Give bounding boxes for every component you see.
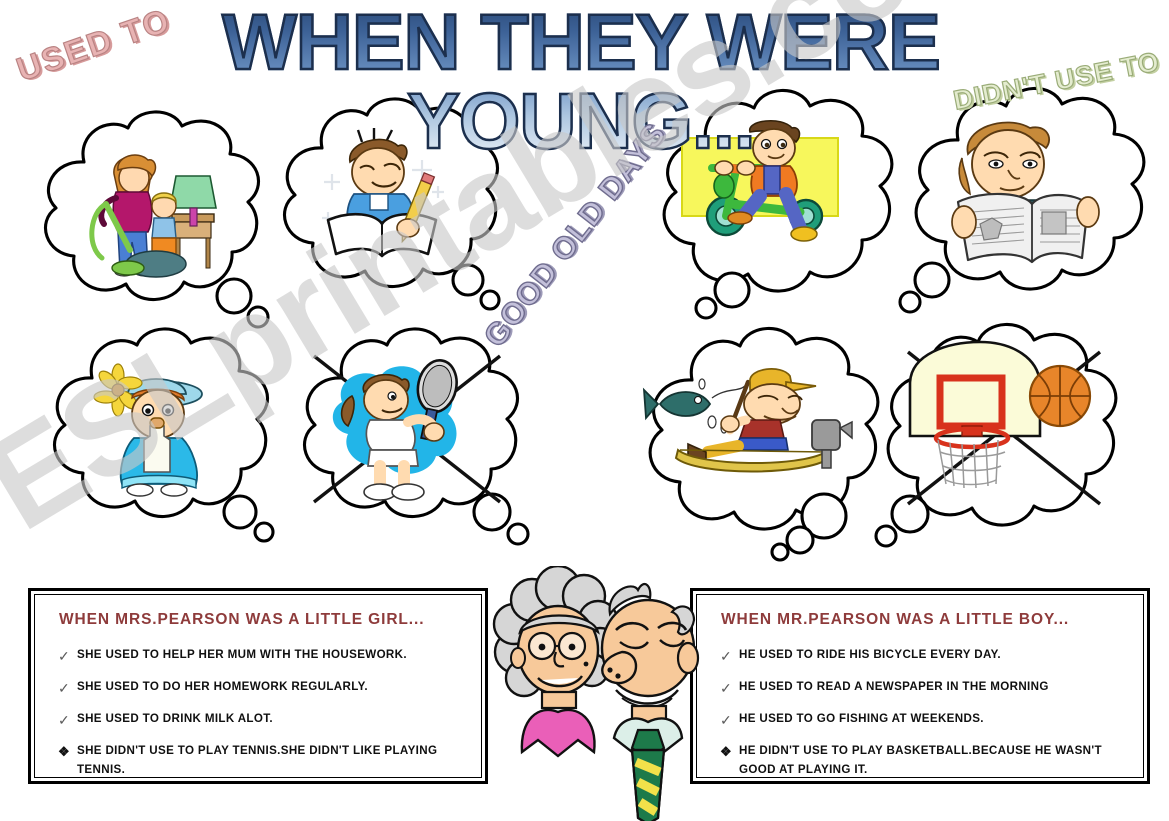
mrs-pearson-avatar [494,566,618,756]
mrs-pearson-sentence-list: ✓ SHE USED TO HELP HER MUM WITH THE HOUS… [51,646,465,780]
list-item: ✓ HE USED TO GO FISHING AT WEEKENDS. [713,710,1127,731]
thought-bubble-tennis [282,322,530,540]
scene-milk-icon [88,358,228,500]
list-item-text: HE DIDN'T USE TO PLAY BASKETBALL.BECAUSE… [739,742,1127,780]
check-icon: ✓ [713,678,739,699]
scene-fishing-icon [654,364,858,476]
thought-bubble-milk [32,322,280,540]
diamond-cross-icon: ❖ [51,742,77,762]
list-item-text: HE USED TO RIDE HIS BICYCLE EVERY DAY. [739,646,1127,665]
scene-tennis-icon [324,352,490,504]
list-item-text: HE USED TO READ A NEWSPAPER IN THE MORNI… [739,678,1127,697]
check-icon: ✓ [713,710,739,731]
list-item-text: SHE DIDN'T USE TO PLAY TENNIS.SHE DIDN'T… [77,742,465,780]
scene-basketball-icon [900,340,1100,506]
mr-pearson-avatar [602,584,698,821]
diamond-cross-icon: ❖ [713,742,739,762]
used-to-label: USED TO [12,1,176,89]
elderly-couple-illustration [482,566,710,821]
list-item: ✓ SHE USED TO DO HER HOMEWORK REGULARLY. [51,678,465,699]
check-icon: ✓ [713,646,739,667]
worksheet-page: USED TO WHEN THEY WERE YOUNG... DIDN'T U… [0,0,1169,821]
list-item: ✓ HE USED TO RIDE HIS BICYCLE EVERY DAY. [713,646,1127,667]
mr-pearson-panel-title: WHEN MR.PEARSON WAS A LITTLE BOY... [721,611,1127,629]
mr-pearson-sentence-list: ✓ HE USED TO RIDE HIS BICYCLE EVERY DAY.… [713,646,1127,780]
list-item-text: SHE USED TO DRINK MILK ALOT. [77,710,465,729]
list-item-text: HE USED TO GO FISHING AT WEEKENDS. [739,710,1127,729]
check-icon: ✓ [51,646,77,667]
scene-housework-icon [72,146,222,281]
list-item: ✓ SHE USED TO HELP HER MUM WITH THE HOUS… [51,646,465,667]
check-icon: ✓ [51,710,77,731]
mrs-pearson-panel: WHEN MRS.PEARSON WAS A LITTLE GIRL... ✓ … [28,588,488,784]
list-item: ❖ SHE DIDN'T USE TO PLAY TENNIS.SHE DIDN… [51,742,465,780]
list-item: ✓ HE USED TO READ A NEWSPAPER IN THE MOR… [713,678,1127,699]
list-item-text: SHE USED TO DO HER HOMEWORK REGULARLY. [77,678,465,697]
list-item-text: SHE USED TO HELP HER MUM WITH THE HOUSEW… [77,646,465,665]
list-item: ✓ SHE USED TO DRINK MILK ALOT. [51,710,465,731]
thought-bubble-fishing [628,320,890,556]
thought-bubble-basketball [866,316,1128,552]
check-icon: ✓ [51,678,77,699]
mrs-pearson-panel-title: WHEN MRS.PEARSON WAS A LITTLE GIRL... [59,611,465,629]
page-title: WHEN THEY WERE YOUNG... [186,2,976,160]
list-item: ❖ HE DIDN'T USE TO PLAY BASKETBALL.BECAU… [713,742,1127,780]
mr-pearson-panel: WHEN MR.PEARSON WAS A LITTLE BOY... ✓ HE… [690,588,1150,784]
